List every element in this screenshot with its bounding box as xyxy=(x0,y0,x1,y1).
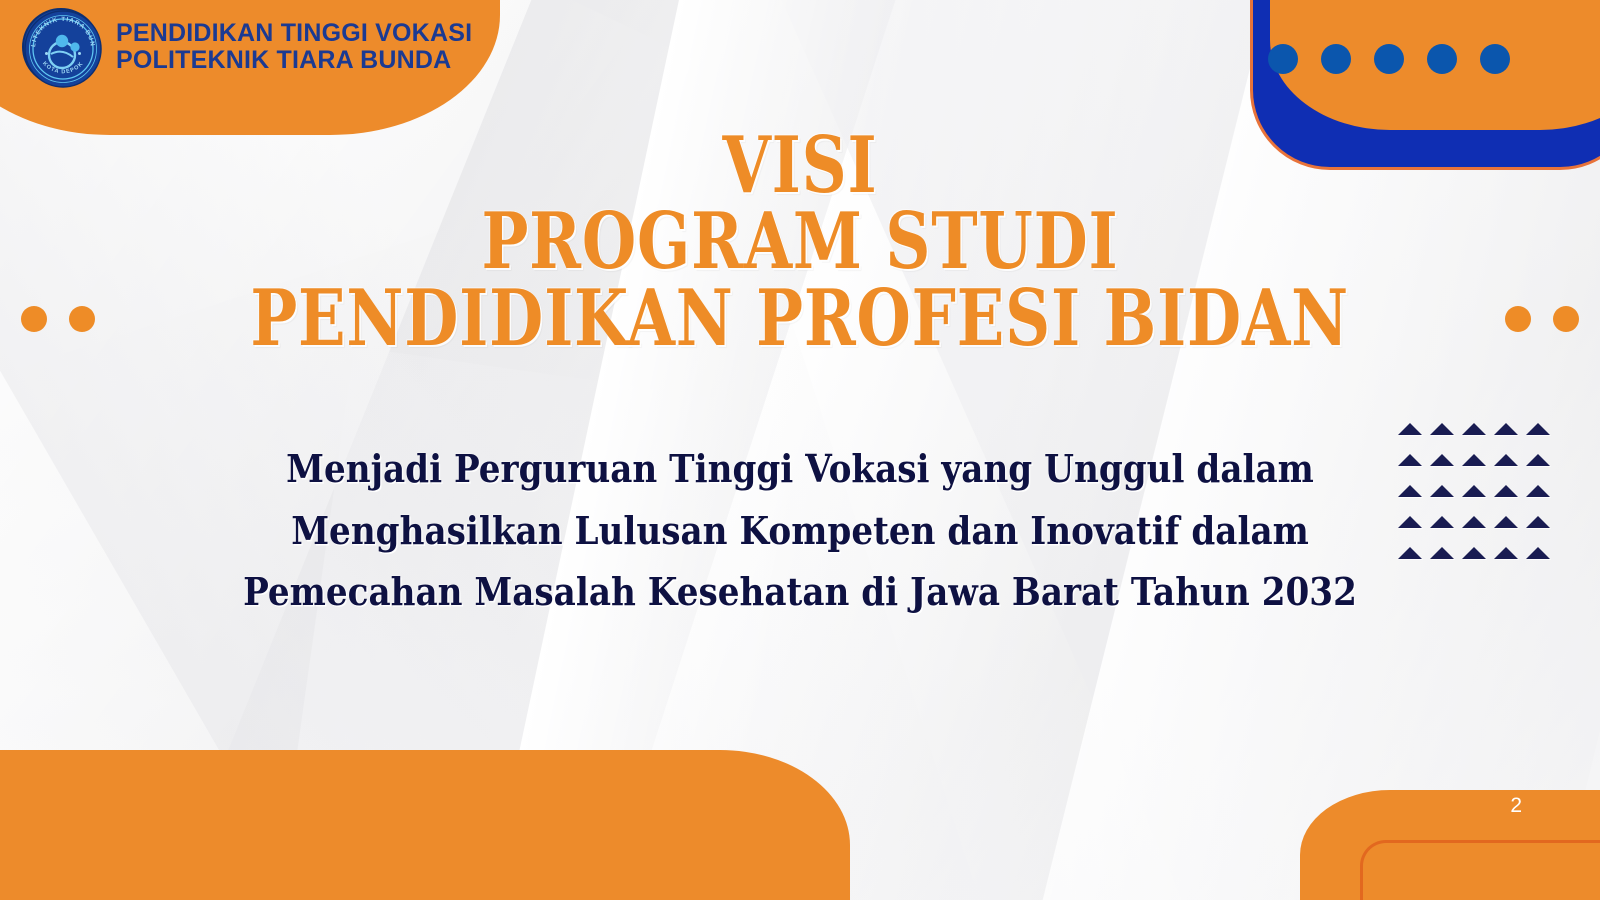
decorative-dot xyxy=(69,306,95,332)
institution-name: PENDIDIKAN TINGGI VOKASI POLITEKNIK TIAR… xyxy=(116,20,472,74)
decorative-dot xyxy=(21,306,47,332)
decorative-dot xyxy=(1505,306,1531,332)
triangle-icon xyxy=(1462,423,1486,435)
decorative-dot xyxy=(1480,44,1510,74)
top-right-dot-row xyxy=(1268,44,1510,74)
title-line-1: VISI xyxy=(160,128,1440,204)
slide-number: 2 xyxy=(1510,794,1522,818)
vision-line-3: Pemecahan Masalah Kesehatan di Jawa Bara… xyxy=(80,561,1520,623)
slide-title: VISI PROGRAM STUDI PENDIDIKAN PROFESI BI… xyxy=(0,128,1600,357)
vision-line-2: Menghasilkan Lulusan Kompeten dan Inovat… xyxy=(80,500,1520,562)
triangle-icon xyxy=(1526,423,1550,435)
title-dots-left xyxy=(0,306,95,332)
decorative-dot xyxy=(1374,44,1404,74)
slide-canvas: POLITEKNIK TIARA BUNDA KOTA DEPOK PENDID… xyxy=(0,0,1600,900)
decorative-dot xyxy=(1427,44,1457,74)
title-line-2: PROGRAM STUDI xyxy=(160,204,1440,280)
bottom-left-orange-shape xyxy=(0,750,850,900)
header-branding: POLITEKNIK TIARA BUNDA KOTA DEPOK PENDID… xyxy=(22,8,472,86)
triangle-icon xyxy=(1430,423,1454,435)
institution-logo-icon: POLITEKNIK TIARA BUNDA KOTA DEPOK xyxy=(22,8,100,86)
decorative-dot xyxy=(1553,306,1579,332)
title-line-3: PENDIDIKAN PROFESI BIDAN xyxy=(251,281,1350,357)
org-line-2: POLITEKNIK TIARA BUNDA xyxy=(116,47,472,74)
vision-statement: Menjadi Perguruan Tinggi Vokasi yang Ung… xyxy=(0,438,1600,623)
title-line-3-row: PENDIDIKAN PROFESI BIDAN xyxy=(0,281,1600,357)
bottom-right-outline-accent xyxy=(1360,840,1600,900)
decorative-dot xyxy=(1268,44,1298,74)
triangle-icon xyxy=(1494,423,1518,435)
triangle-icon xyxy=(1398,423,1422,435)
title-dots-right xyxy=(1505,306,1600,332)
org-line-1: PENDIDIKAN TINGGI VOKASI xyxy=(116,20,472,47)
decorative-dot xyxy=(1321,44,1351,74)
vision-line-1: Menjadi Perguruan Tinggi Vokasi yang Ung… xyxy=(80,438,1520,500)
